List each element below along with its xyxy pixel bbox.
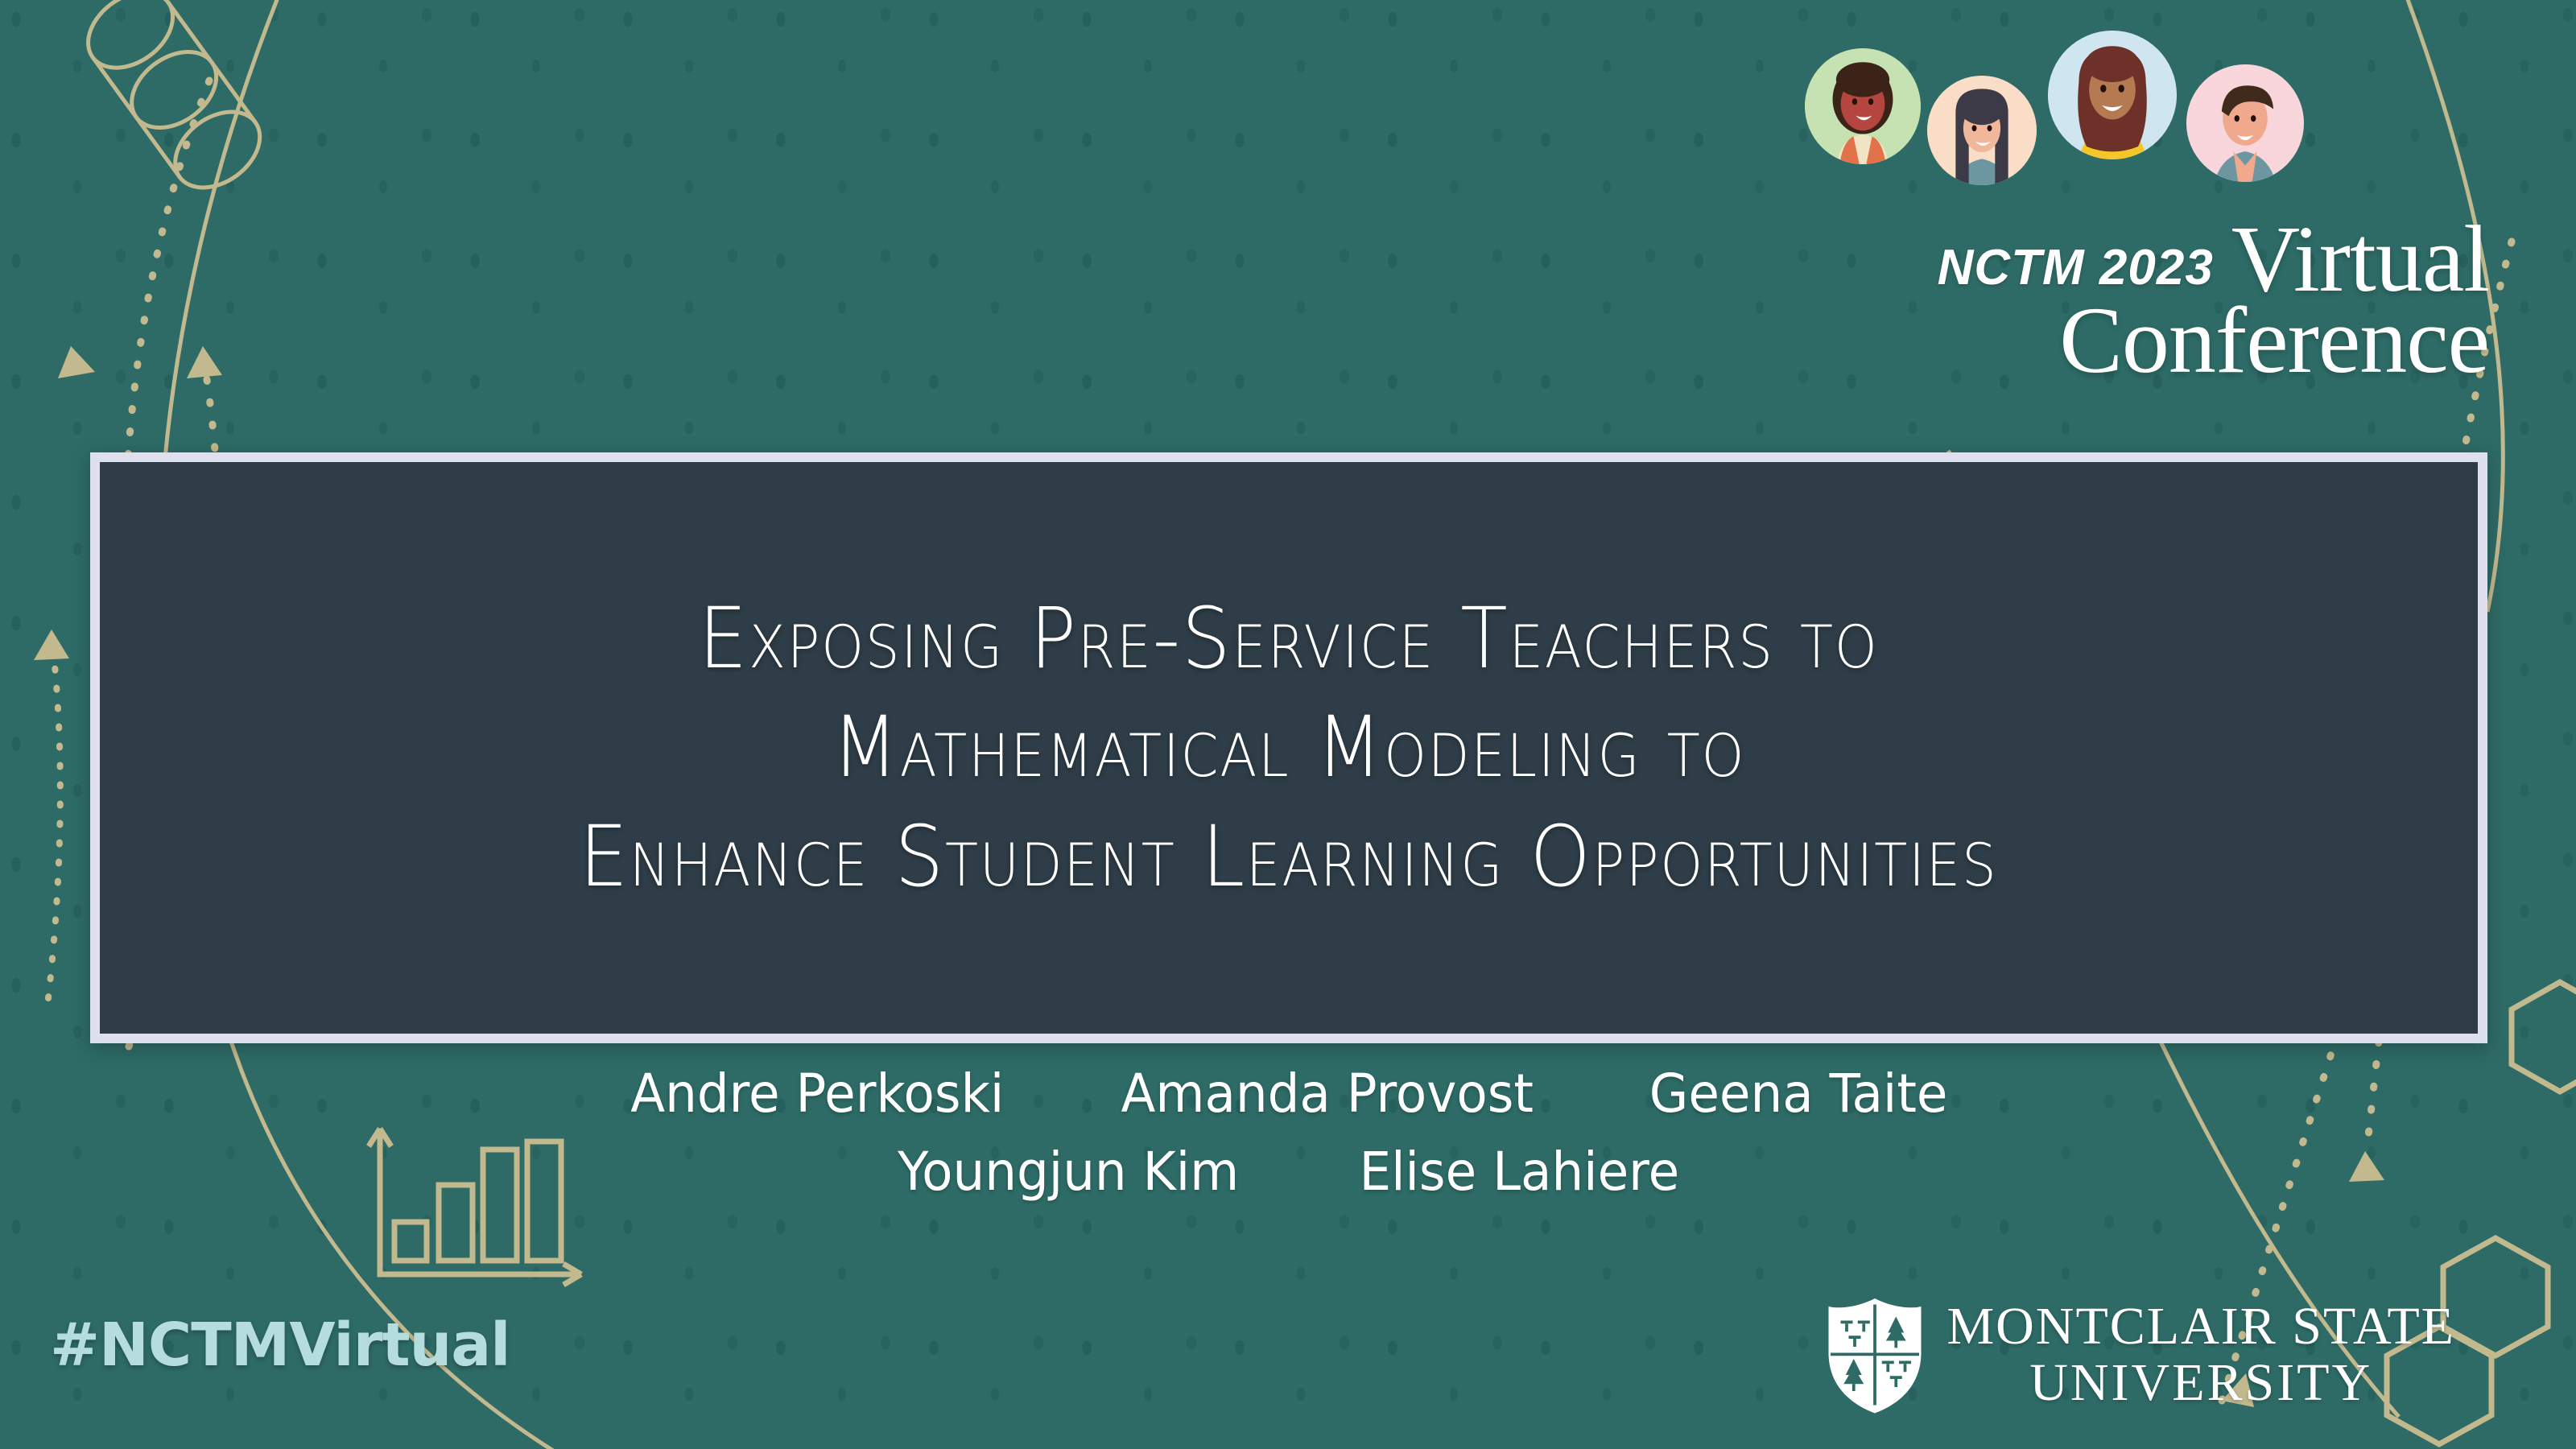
montclair-line-2: UNIVERSITY [1946, 1356, 2455, 1410]
presenter-row-1: Andre Perkoski Amanda Provost Geena Tait… [0, 1063, 2576, 1125]
title-line-1: Exposing Pre-Service Teachers to [699, 584, 1879, 693]
presenter-avatar-group [1805, 31, 2384, 208]
avatar-1 [1805, 48, 1921, 164]
presenter-name: Amanda Provost [1121, 1063, 1534, 1125]
presenter-name: Youngjun Kim [898, 1141, 1239, 1203]
avatar-3 [2048, 31, 2177, 159]
title-line-2: Mathematical Modeling to [832, 693, 1746, 802]
montclair-line-1: MONTCLAIR STATE [1946, 1300, 2455, 1353]
avatar-2 [1927, 76, 2037, 185]
title-line-3: Enhance Student Learning Opportunities [580, 803, 1998, 911]
montclair-state-university-logo: MONTCLAIR STATE UNIVERSITY [1824, 1294, 2455, 1415]
presenter-name-list: Andre Perkoski Amanda Provost Geena Tait… [0, 1063, 2576, 1203]
event-hashtag: #NCTMVirtual [50, 1311, 510, 1380]
nctm-conference-logo: NCTM 2023 Virtual Conference [1938, 216, 2489, 384]
presenter-name: Elise Lahiere [1359, 1141, 1679, 1203]
presenter-name: Geena Taite [1649, 1063, 1948, 1125]
presentation-title-board: Exposing Pre-Service Teachers to Mathema… [90, 452, 2487, 1043]
logo-conference-label: Conference [1938, 297, 2489, 385]
montclair-shield-crest-icon [1824, 1294, 1926, 1415]
presenter-row-2: Youngjun Kim Elise Lahiere [0, 1141, 2576, 1203]
avatar-4 [2186, 64, 2304, 182]
montclair-wordmark: MONTCLAIR STATE UNIVERSITY [1946, 1300, 2455, 1410]
conference-title-slide: NCTM 2023 Virtual Conference Exposing Pr… [0, 0, 2576, 1449]
presenter-name: Andre Perkoski [630, 1063, 1004, 1125]
